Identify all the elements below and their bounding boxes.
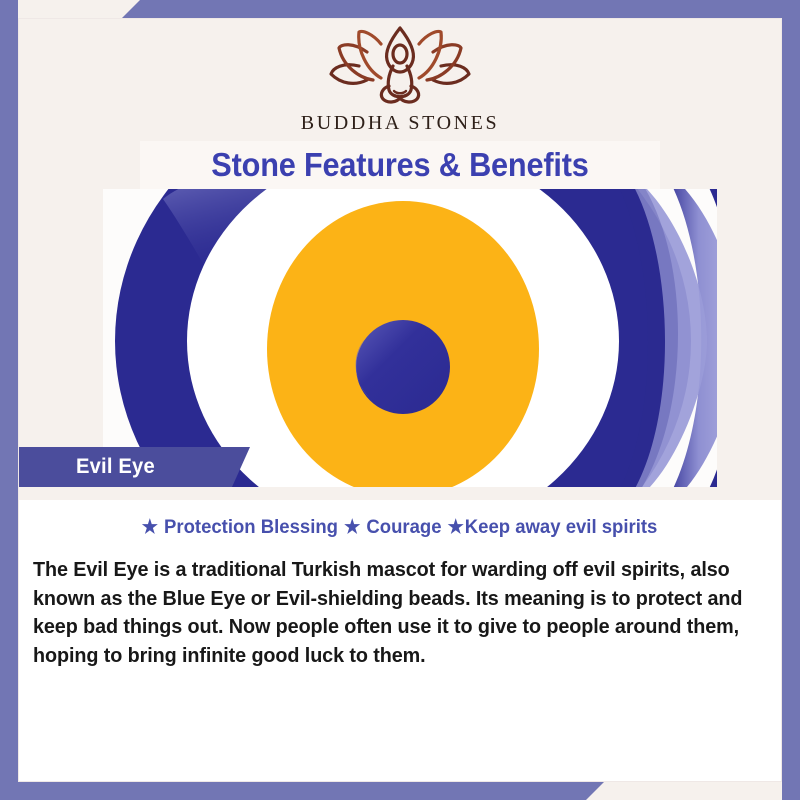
description-text: The Evil Eye is a traditional Turkish ma… [33,556,751,670]
frame-band-bottom [0,782,800,800]
lotus-meditation-figure-icon [315,22,485,108]
infographic-page: BUDDHA STONES Stone Features & Benefits [0,0,800,800]
evil-eye-ribbon-label: Evil Eye [76,447,155,487]
feature-item-keep-away-evil-spirits: Keep away evil spirits [465,516,658,538]
feature-list: ★ Protection Blessing ★ Courage ★Keep aw… [37,516,763,539]
image-bottom-tint [18,487,782,501]
feature-item-protection-blessing: Protection Blessing [164,516,338,538]
frame-band-top [0,0,800,18]
page-title: Stone Features & Benefits [28,140,772,189]
brand-logo: BUDDHA STONES [0,22,800,135]
star-icon: ★ [142,517,158,538]
feature-item-courage: Courage [366,516,441,538]
frame-band-right [782,0,800,800]
evil-eye-image [103,189,717,487]
star-icon: ★ [448,517,464,538]
evil-eye-graphic [103,189,717,487]
star-icon: ★ [344,517,360,538]
frame-band-left [0,0,18,800]
brand-name: BUDDHA STONES [301,112,499,135]
